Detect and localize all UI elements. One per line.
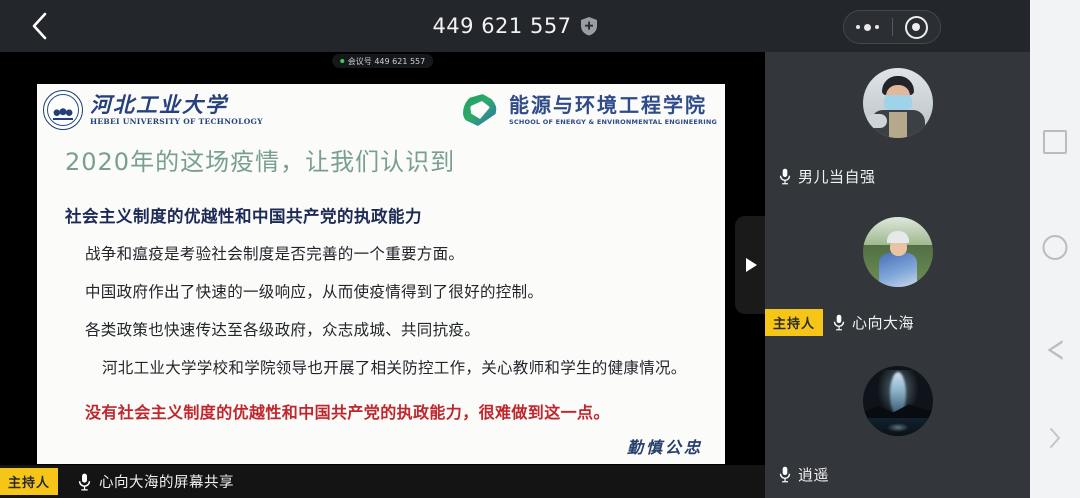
mini-program-capsule xyxy=(843,10,941,44)
close-miniprogram-button[interactable] xyxy=(893,16,941,39)
university-seal-icon xyxy=(43,90,83,130)
slide-conclusion: 没有社会主义制度的优越性和中国共产党的执政能力，很难做到这一点。 xyxy=(85,399,725,423)
microphone-icon xyxy=(779,466,791,483)
screen-share-label: 心向大海的屏幕共享 xyxy=(99,471,234,492)
participant-sidebar[interactable]: 男儿当自强 主持人 心向大海 xyxy=(765,52,1030,498)
participant-footer: 主持人 心向大海 xyxy=(765,309,1030,336)
play-triangle-right-icon xyxy=(746,258,757,272)
more-dots-icon xyxy=(875,25,879,29)
swirl-leaf-icon xyxy=(461,92,501,128)
avatar-masked-person-icon xyxy=(863,68,933,138)
university-name-en: HEBEI UNIVERSITY OF TECHNOLOGY xyxy=(90,118,263,126)
microphone-icon xyxy=(833,314,845,331)
participant-tile[interactable]: 主持人 心向大海 xyxy=(765,201,1030,350)
top-bar: 449 621 557 xyxy=(0,0,1030,52)
square-recents-icon[interactable] xyxy=(1043,130,1067,154)
school-logo: 能源与环境工程学院 SCHOOL OF ENERGY & ENVIRONMENT… xyxy=(461,92,717,128)
slide-paragraph: 中国政府作出了快速的一级响应，从而使疫情得到了很好的控制。 xyxy=(85,282,725,303)
participant-name: 男儿当自强 xyxy=(798,166,876,187)
slide-subtitle: 社会主义制度的优越性和中国共产党的执政能力 xyxy=(65,203,725,227)
more-dots-icon xyxy=(864,24,871,31)
participant-footer: 男儿当自强 xyxy=(765,166,1030,187)
slide-logo-row: 河北工业大学 HEBEI UNIVERSITY OF TECHNOLOGY 能源… xyxy=(37,84,725,140)
microphone-icon xyxy=(779,168,791,185)
participant-name: 心向大海 xyxy=(852,312,914,333)
avatar-night-sky-icon xyxy=(863,366,933,436)
shared-screen-stage[interactable]: 会议号 449 621 557 河北工业大学 HEBEI UNIVERSITY … xyxy=(0,52,765,498)
participant-name: 逍遥 xyxy=(798,464,829,485)
chevron-left-icon xyxy=(30,10,50,42)
target-circle-icon xyxy=(905,16,928,39)
participant-tile[interactable]: 逍遥 xyxy=(765,350,1030,498)
system-navigation-bar xyxy=(1030,0,1080,498)
microphone-icon xyxy=(78,473,91,491)
meeting-app-window: 449 621 557 会议号 449 621 557 xyxy=(0,0,1080,498)
host-badge: 主持人 xyxy=(765,309,823,336)
host-badge: 主持人 xyxy=(0,468,58,495)
more-options-button[interactable] xyxy=(844,24,892,31)
slide-paragraph: 战争和瘟疫是考验社会制度是否完善的一个重要方面。 xyxy=(85,244,725,265)
circle-home-icon[interactable] xyxy=(1043,235,1068,260)
slide-paragraph: 河北工业大学学校和学院领导也开展了相关防控工作，关心教师和学生的健康情况。 xyxy=(85,358,711,379)
meeting-id-pill: 会议号 449 621 557 xyxy=(332,54,433,68)
meeting-id-label: 会议号 449 621 557 xyxy=(348,56,425,67)
school-motto: 勤慎公忠 xyxy=(627,434,703,458)
expand-panel-button[interactable] xyxy=(735,216,765,314)
back-button[interactable] xyxy=(18,8,62,44)
participant-tile[interactable]: 男儿当自强 xyxy=(765,52,1030,201)
presentation-slide: 河北工业大学 HEBEI UNIVERSITY OF TECHNOLOGY 能源… xyxy=(37,84,725,464)
slide-paragraph: 各类政策也快速传达至各级政府，众志成城、共同抗疫。 xyxy=(85,320,725,341)
school-name-cn: 能源与环境工程学院 xyxy=(509,95,717,115)
university-name-cn: 河北工业大学 xyxy=(90,94,263,115)
chevron-right-icon[interactable] xyxy=(1047,425,1063,451)
more-dots-icon xyxy=(856,25,860,29)
shield-plus-icon xyxy=(580,16,598,36)
meeting-number: 449 621 557 xyxy=(432,14,571,38)
participant-footer: 逍遥 xyxy=(765,464,1030,485)
university-logo: 河北工业大学 HEBEI UNIVERSITY OF TECHNOLOGY xyxy=(43,90,263,130)
slide-title: 2020年的这场疫情，让我们认识到 xyxy=(65,142,725,177)
green-dot-icon xyxy=(340,59,344,63)
screen-share-bar: 主持人 心向大海的屏幕共享 xyxy=(0,465,765,498)
school-name-en: SCHOOL OF ENERGY & ENVIRONMENTAL ENGINEE… xyxy=(509,119,717,126)
avatar-child-outdoors-icon xyxy=(863,217,933,287)
triangle-back-icon[interactable] xyxy=(1048,340,1063,360)
